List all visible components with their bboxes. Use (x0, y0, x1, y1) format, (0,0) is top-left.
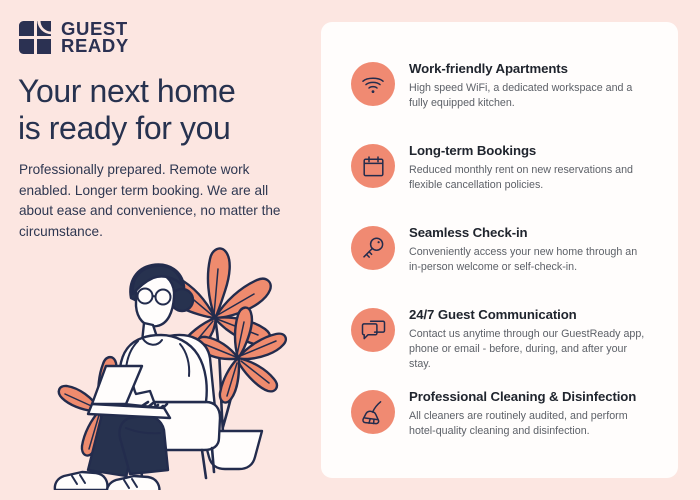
key-icon (361, 236, 385, 260)
feature-item-professional-cleaning[interactable]: Professional Cleaning & Disinfection All… (351, 388, 671, 439)
feature-title: Professional Cleaning & Disinfection (409, 389, 649, 406)
feature-description: All cleaners are routinely audited, and … (409, 409, 649, 439)
promo-page: GUEST READY Your next home is ready for … (0, 0, 700, 500)
feature-icon-circle (351, 62, 395, 106)
feature-text: 24/7 Guest Communication Contact us anyt… (409, 306, 649, 372)
woman-working-on-laptop-in-armchair-with-plants-illustration: .ink { fill:none; stroke:#232c4d; stroke… (30, 222, 308, 490)
feature-text: Seamless Check-in Conveniently access yo… (409, 224, 649, 275)
feature-text: Long-term Bookings Reduced monthly rent … (409, 142, 649, 193)
feature-title: Long-term Bookings (409, 143, 649, 160)
feature-icon-circle (351, 144, 395, 188)
left-column: GUEST READY Your next home is ready for … (0, 0, 312, 500)
feature-item-seamless-check-in[interactable]: Seamless Check-in Conveniently access yo… (351, 224, 671, 275)
calendar-icon (362, 155, 385, 178)
feature-icon-circle (351, 308, 395, 352)
features-card: Work-friendly Apartments High speed WiFi… (321, 22, 678, 478)
feature-icon-circle (351, 226, 395, 270)
feature-item-guest-communication[interactable]: 24/7 Guest Communication Contact us anyt… (351, 306, 671, 372)
feature-description: Contact us anytime through our GuestRead… (409, 327, 649, 373)
feature-title: Work-friendly Apartments (409, 61, 649, 78)
wifi-icon (361, 73, 385, 95)
feature-description: Conveniently access your new home throug… (409, 245, 649, 275)
page-title: Your next home is ready for you (18, 73, 308, 148)
feature-item-long-term-bookings[interactable]: Long-term Bookings Reduced monthly rent … (351, 142, 671, 193)
feature-text: Professional Cleaning & Disinfection All… (409, 388, 649, 439)
feature-description: High speed WiFi, a dedicated workspace a… (409, 81, 649, 111)
guestready-squares-logo-icon (18, 20, 52, 54)
logo-wordmark: GUEST READY (61, 20, 129, 54)
feature-title: 24/7 Guest Communication (409, 307, 649, 324)
feature-title: Seamless Check-in (409, 225, 649, 242)
feature-description: Reduced monthly rent on new reservations… (409, 163, 649, 193)
brand-logo[interactable]: GUEST READY (18, 20, 129, 54)
feature-icon-circle (351, 390, 395, 434)
feature-item-work-friendly-apartments[interactable]: Work-friendly Apartments High speed WiFi… (351, 60, 671, 111)
logo-word-line-2: READY (61, 37, 129, 54)
broom-icon (361, 400, 386, 425)
feature-text: Work-friendly Apartments High speed WiFi… (409, 60, 649, 111)
chat-bubbles-icon (361, 319, 386, 342)
